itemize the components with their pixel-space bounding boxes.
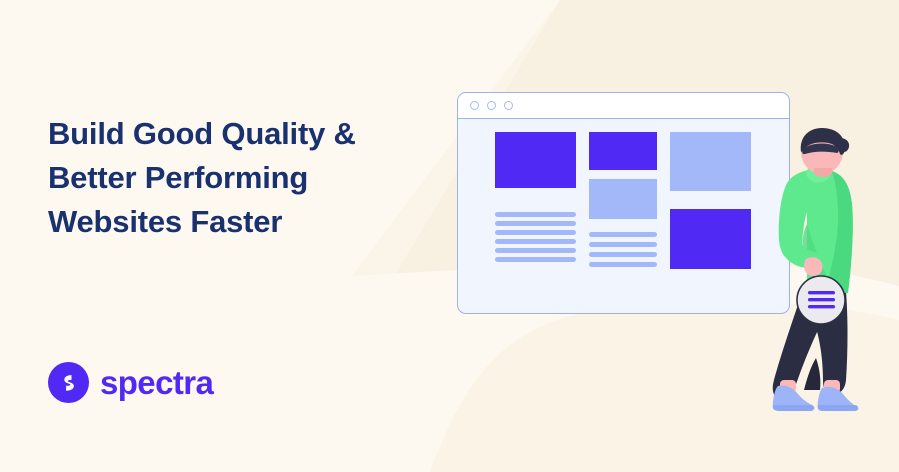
browser-title-bar xyxy=(458,93,789,119)
menu-bar-1 xyxy=(808,291,835,294)
person-illustration xyxy=(760,128,899,418)
menu-bar-3 xyxy=(808,305,835,308)
column-spacer xyxy=(670,191,751,209)
spectra-wordmark: spectra xyxy=(100,366,213,399)
text-line xyxy=(589,252,657,257)
image-block-blue xyxy=(670,132,751,191)
leg-shadow xyxy=(804,358,820,390)
image-block-blue xyxy=(589,179,657,219)
text-line xyxy=(495,212,576,217)
spectra-bolt-icon xyxy=(48,362,89,403)
image-block-purple xyxy=(495,132,576,188)
image-block-purple xyxy=(589,132,657,170)
browser-mockup xyxy=(457,92,790,314)
text-line xyxy=(589,232,657,237)
text-line xyxy=(495,221,576,226)
text-line xyxy=(495,230,576,235)
headline-line-3: Websites Faster xyxy=(48,204,282,239)
browser-content-area xyxy=(458,119,789,313)
page-title: Build Good Quality &Better PerformingWeb… xyxy=(48,112,418,244)
text-placeholder-lines xyxy=(495,212,576,262)
text-line xyxy=(495,239,576,244)
window-dot-3[interactable] xyxy=(504,101,513,110)
column-spacer xyxy=(495,188,576,212)
hero-left-column: Build Good Quality &Better PerformingWeb… xyxy=(48,0,428,472)
spectra-logo[interactable]: spectra xyxy=(48,362,213,403)
window-dot-1[interactable] xyxy=(470,101,479,110)
column-spacer xyxy=(589,219,657,232)
left-shoe-sole xyxy=(773,405,814,411)
hero-banner: Build Good Quality &Better PerformingWeb… xyxy=(0,0,899,472)
text-line xyxy=(495,257,576,262)
headline-line-2: Better Performing xyxy=(48,160,308,195)
text-placeholder-lines xyxy=(589,232,657,267)
column-spacer xyxy=(589,170,657,179)
person-illustration-svg xyxy=(760,128,899,418)
menu-bar-2 xyxy=(808,298,835,301)
text-line xyxy=(495,248,576,253)
content-column-1 xyxy=(495,132,576,313)
bolt-glyph xyxy=(58,372,80,394)
text-line xyxy=(589,242,657,247)
text-line xyxy=(589,262,657,267)
right-shoe-sole xyxy=(818,405,858,411)
headline-line-1: Build Good Quality & xyxy=(48,116,356,151)
content-column-3 xyxy=(670,132,751,313)
content-column-2 xyxy=(589,132,657,313)
image-block-purple xyxy=(670,209,751,269)
window-dot-2[interactable] xyxy=(487,101,496,110)
